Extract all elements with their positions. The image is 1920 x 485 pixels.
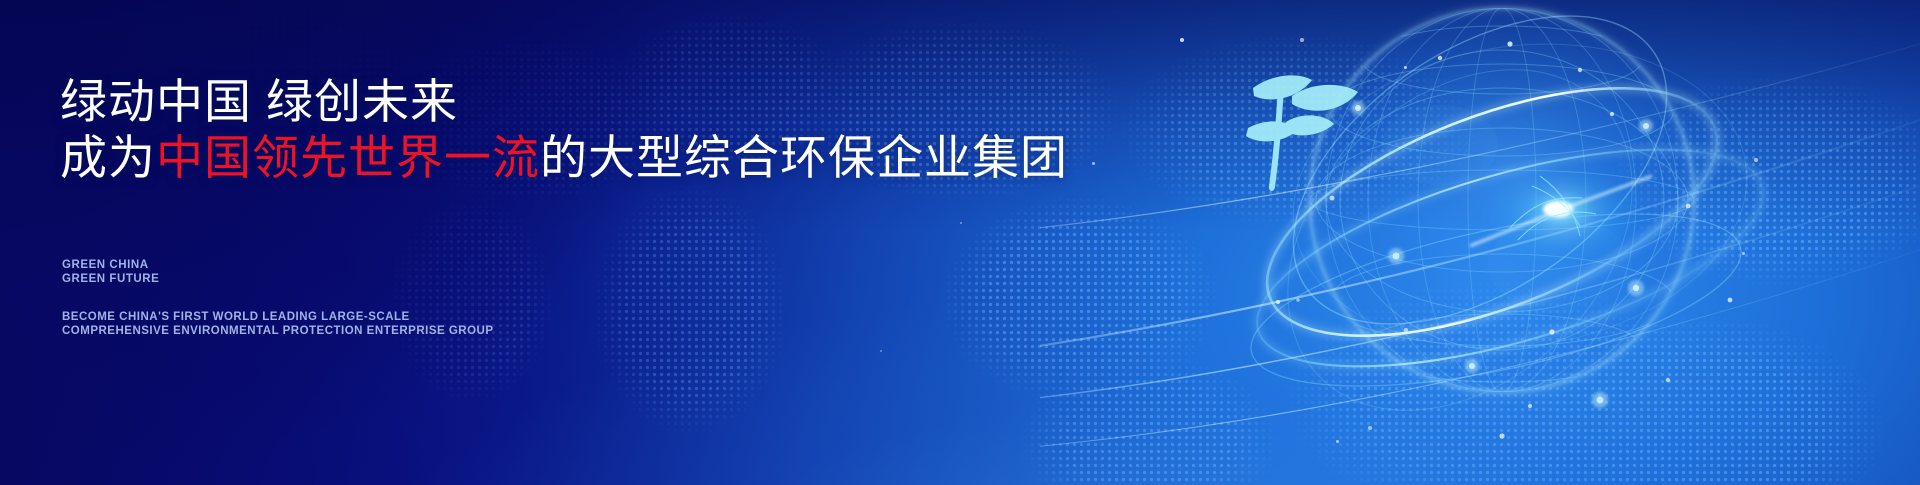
headline-suffix: 的大型综合环保企业集团 <box>540 131 1068 184</box>
subtitle-block: BECOME CHINA'S FIRST WORLD LEADING LARGE… <box>62 310 494 338</box>
subtitle-line-2: COMPREHENSIVE ENVIRONMENTAL PROTECTION E… <box>62 324 494 338</box>
subtitle-line-1: BECOME CHINA'S FIRST WORLD LEADING LARGE… <box>62 310 494 324</box>
tagline-line-2: GREEN FUTURE <box>62 272 159 286</box>
tagline-line-1: GREEN CHINA <box>62 258 159 272</box>
headline-line-2: 成为中国领先世界一流的大型综合环保企业集团 <box>60 130 1068 186</box>
headline-line-1: 绿动中国 绿创未来 <box>60 74 1068 130</box>
hero-banner: 绿动中国 绿创未来 成为中国领先世界一流的大型综合环保企业集团 GREEN CH… <box>0 0 1920 485</box>
headline-block: 绿动中国 绿创未来 成为中国领先世界一流的大型综合环保企业集团 <box>60 74 1068 186</box>
headline-prefix: 成为 <box>60 131 156 184</box>
tagline-block: GREEN CHINA GREEN FUTURE <box>62 258 159 286</box>
wireframe-globe <box>1040 0 1920 485</box>
headline-highlight: 中国领先世界一流 <box>156 131 540 184</box>
